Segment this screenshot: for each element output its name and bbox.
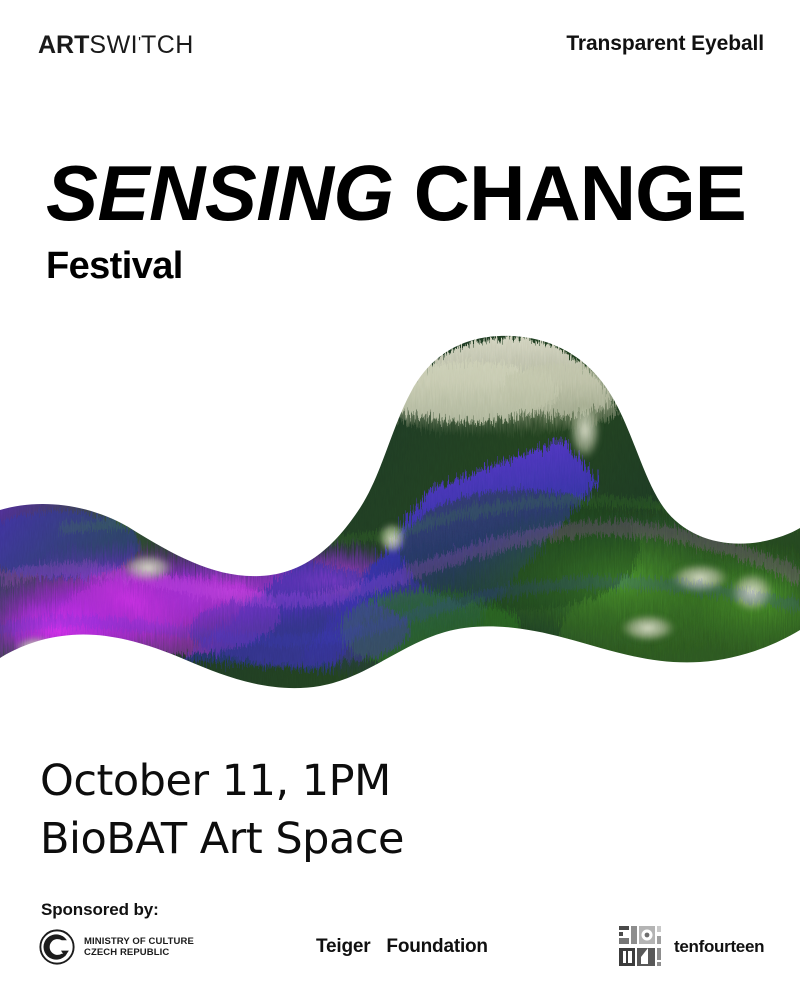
sponsor-ministry-of-culture[interactable]: MINISTRY OF CULTURE CZECH REPUBLIC: [38, 928, 194, 966]
sponsor-teiger-foundation[interactable]: TeigerFoundation: [316, 936, 488, 958]
artswitch-logo-tick: ': [138, 34, 141, 51]
event-venue: BioBAT Art Space: [40, 810, 404, 868]
tenfourteen-icon: [617, 924, 665, 970]
artswitch-logo[interactable]: ARTSWI'TCH: [38, 30, 194, 64]
artwork-image: [0, 330, 800, 720]
artwork-blob: [0, 330, 800, 720]
ministry-of-culture-text: MINISTRY OF CULTURE CZECH REPUBLIC: [84, 936, 194, 959]
ministry-line-2: CZECH REPUBLIC: [84, 947, 194, 959]
poster-canvas: ARTSWI'TCH Transparent Eyeball SENSING C…: [0, 0, 800, 1000]
foundation-word: Foundation: [386, 936, 487, 957]
teiger-word: Teiger: [316, 936, 370, 957]
title-block: SENSING CHANGE Festival: [46, 152, 776, 286]
artwork-svg: [0, 330, 800, 720]
ministry-of-culture-icon: [38, 928, 76, 966]
title-word-change: CHANGE: [414, 149, 746, 237]
event-info: October 11, 1PM BioBAT Art Space: [40, 752, 404, 868]
transparent-eyeball-label: Transparent Eyeball: [566, 32, 764, 56]
page-title: SENSING CHANGE: [46, 152, 776, 234]
event-date-time: October 11, 1PM: [40, 752, 404, 810]
sponsors-section: Sponsored by: MINISTRY OF CULTURE CZECH …: [0, 900, 800, 990]
title-subtitle: Festival: [46, 246, 776, 286]
artswitch-logo-art: ART: [38, 31, 89, 59]
artswitch-logo-tch: TCH: [141, 31, 194, 59]
artswitch-logo-swi: SWI: [89, 31, 138, 59]
sponsored-by-label: Sponsored by:: [41, 900, 159, 920]
ministry-line-1: MINISTRY OF CULTURE: [84, 936, 194, 948]
poster-header: ARTSWI'TCH Transparent Eyeball: [0, 30, 800, 70]
sponsor-tenfourteen[interactable]: tenfourteen: [617, 924, 764, 970]
title-word-sensing: SENSING: [46, 149, 394, 237]
tenfourteen-wordmark: tenfourteen: [674, 937, 764, 957]
